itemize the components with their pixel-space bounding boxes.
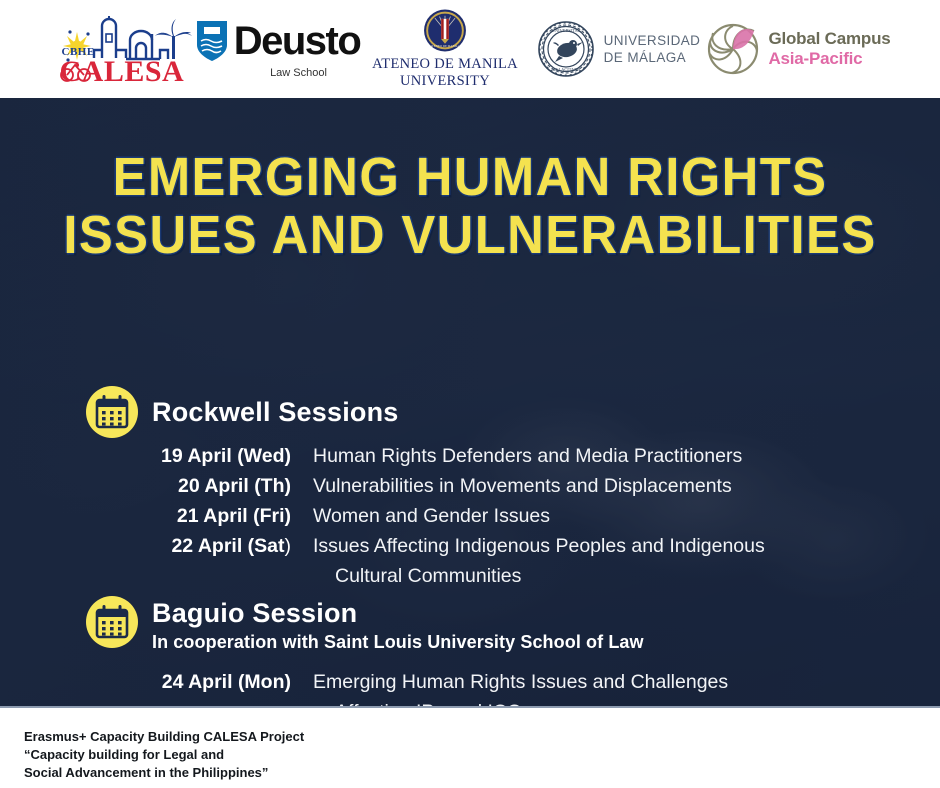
schedule-description-continued: Affecting IPs and ICCs [148, 698, 728, 706]
schedule-description: Issues Affecting Indigenous Peoples and … [313, 532, 765, 560]
logo-calesa: CBHE CALESA [48, 10, 198, 88]
deusto-wordmark: Deusto [234, 21, 361, 61]
ateneo-line-1: ATENEO DE MANILA [372, 56, 518, 72]
schedule-description-continued: Cultural Communities [148, 562, 765, 590]
poster-root: CBHE CALESA Deusto Law School [0, 0, 940, 788]
footer-line-1: Erasmus+ Capacity Building CALESA Projec… [24, 728, 304, 746]
schedule-date: 21 April (Fri) [148, 502, 313, 530]
schedule-row: 24 April (Mon) Emerging Human Rights Iss… [148, 668, 728, 696]
global-campus-swirl-icon [706, 22, 760, 76]
footer-project-text: Erasmus+ Capacity Building CALESA Projec… [24, 728, 304, 782]
malaga-seal-icon: UNIVERSITAS MALACITANA [537, 20, 595, 78]
schedule-description: Emerging Human Rights Issues and Challen… [313, 668, 728, 696]
poster-title: EMERGING HUMAN RIGHTS ISSUES AND VULNERA… [28, 148, 912, 264]
session-header-rockwell: Rockwell Sessions [86, 386, 399, 438]
title-line-2: ISSUES AND VULNERABILITIES [28, 206, 912, 264]
global-campus-line-1: Global Campus [768, 29, 890, 49]
session-header-baguio: Baguio Session In cooperation with Saint… [86, 596, 644, 654]
schedule-list-rockwell: 19 April (Wed) Human Rights Defenders an… [148, 442, 765, 590]
logo-universidad-de-malaga: UNIVERSITAS MALACITANA UNIVERSIDAD DE MÁ… [533, 15, 705, 83]
schedule-date: 19 April (Wed) [148, 442, 313, 470]
logo-global-campus-asia-pacific: Global Campus Asia-Pacific [705, 18, 893, 80]
svg-text:ATENEO DE MANILA: ATENEO DE MANILA [430, 44, 461, 48]
schedule-description: Human Rights Defenders and Media Practit… [313, 442, 742, 470]
schedule-date: 20 April (Th) [148, 472, 313, 500]
logo-ateneo-de-manila: ATENEO DE MANILA ATENEO DE MANILA UNIVER… [358, 8, 533, 90]
global-campus-line-2: Asia-Pacific [768, 49, 890, 69]
poster-footer: Erasmus+ Capacity Building CALESA Projec… [0, 706, 940, 788]
logo-deusto: Deusto Law School [198, 13, 358, 85]
malaga-wordmark: UNIVERSIDAD DE MÁLAGA [604, 32, 701, 66]
schedule-description: Women and Gender Issues [313, 502, 550, 530]
deusto-shield-icon [195, 19, 229, 63]
ateneo-line-2: UNIVERSITY [400, 73, 490, 89]
schedule-date: 24 April (Mon) [148, 668, 313, 696]
calesa-name-text: CALESA [60, 58, 190, 86]
partner-logo-bar: CBHE CALESA Deusto Law School [0, 0, 940, 98]
svg-text:MALACITANA: MALACITANA [551, 67, 581, 72]
footer-line-3: Social Advancement in the Philippines” [24, 764, 304, 782]
global-campus-wordmark: Global Campus Asia-Pacific [768, 29, 890, 69]
calendar-icon [86, 596, 138, 648]
schedule-row: 20 April (Th) Vulnerabilities in Movemen… [148, 472, 765, 500]
schedule-row: 19 April (Wed) Human Rights Defenders an… [148, 442, 765, 470]
deusto-subtitle: Law School [270, 67, 327, 79]
schedule-date: 22 April (Sat) [148, 532, 313, 560]
ateneo-wordmark: ATENEO DE MANILA UNIVERSITY [372, 56, 518, 90]
session-heading-rockwell: Rockwell Sessions [152, 397, 399, 427]
malaga-line-1: UNIVERSIDAD [604, 33, 701, 48]
schedule-list-baguio: 24 April (Mon) Emerging Human Rights Iss… [148, 668, 728, 706]
footer-line-2: “Capacity building for Legal and [24, 746, 304, 764]
poster-main-panel: EMERGING HUMAN RIGHTS ISSUES AND VULNERA… [0, 98, 940, 706]
title-line-1: EMERGING HUMAN RIGHTS [28, 148, 912, 206]
malaga-line-2: DE MÁLAGA [604, 50, 686, 65]
schedule-date-main: 22 April (Sat [171, 535, 284, 557]
schedule-date-paren: ) [285, 535, 292, 557]
svg-text:UNIVERSITAS: UNIVERSITAS [551, 28, 580, 33]
session-heading-baguio: Baguio Session [152, 598, 644, 628]
schedule-description: Vulnerabilities in Movements and Displac… [313, 472, 732, 500]
calendar-icon [86, 386, 138, 438]
schedule-row: 21 April (Fri) Women and Gender Issues [148, 502, 765, 530]
ateneo-seal-icon: ATENEO DE MANILA [416, 8, 474, 53]
footer-divider [0, 706, 940, 708]
schedule-row: 22 April (Sat) Issues Affecting Indigeno… [148, 532, 765, 560]
session-subheading-baguio: In cooperation with Saint Louis Universi… [152, 630, 644, 654]
